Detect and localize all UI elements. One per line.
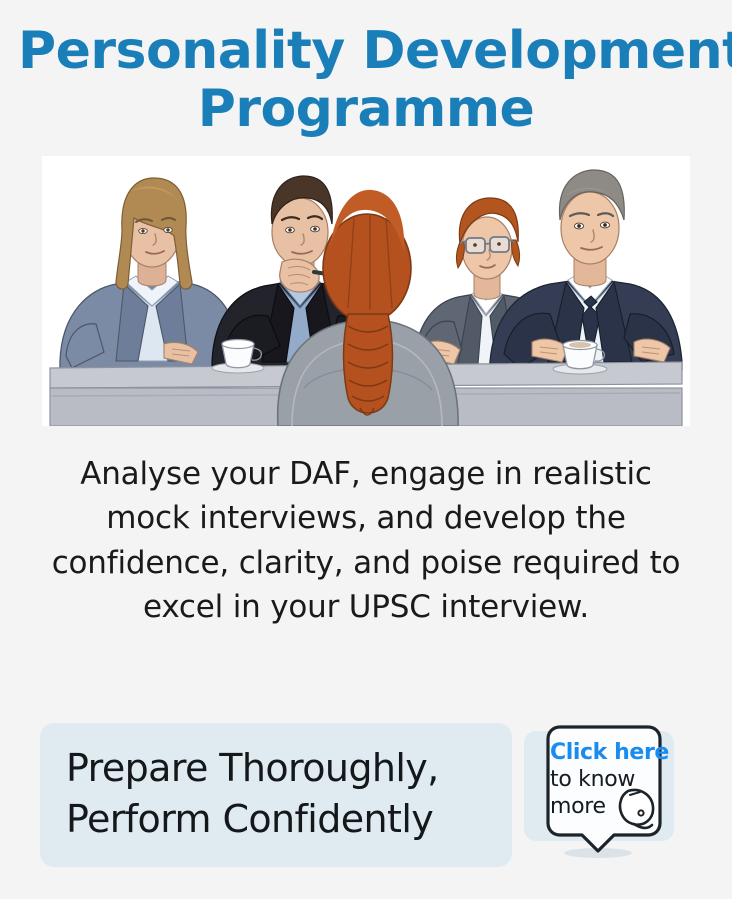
footer-row: Prepare Thoroughly, Perform Confidently [0, 723, 732, 873]
promo-card: Personality Development Programme [0, 0, 732, 899]
tagline-line-2: Perform Confidently [66, 794, 490, 845]
tagline-line-1: Prepare Thoroughly, [66, 743, 490, 794]
tagline-box: Prepare Thoroughly, Perform Confidently [40, 723, 512, 867]
interview-panel-illustration [42, 156, 690, 426]
page-title: Personality Development Programme [0, 0, 732, 138]
page-title-line-1: Personality Development [18, 22, 714, 80]
page-title-line-2: Programme [18, 80, 714, 138]
click-here-button[interactable]: Click here to know more [536, 725, 672, 865]
cta-area: Click here to know more [520, 723, 694, 873]
description-text: Analyse your DAF, engage in realistic mo… [46, 452, 686, 628]
